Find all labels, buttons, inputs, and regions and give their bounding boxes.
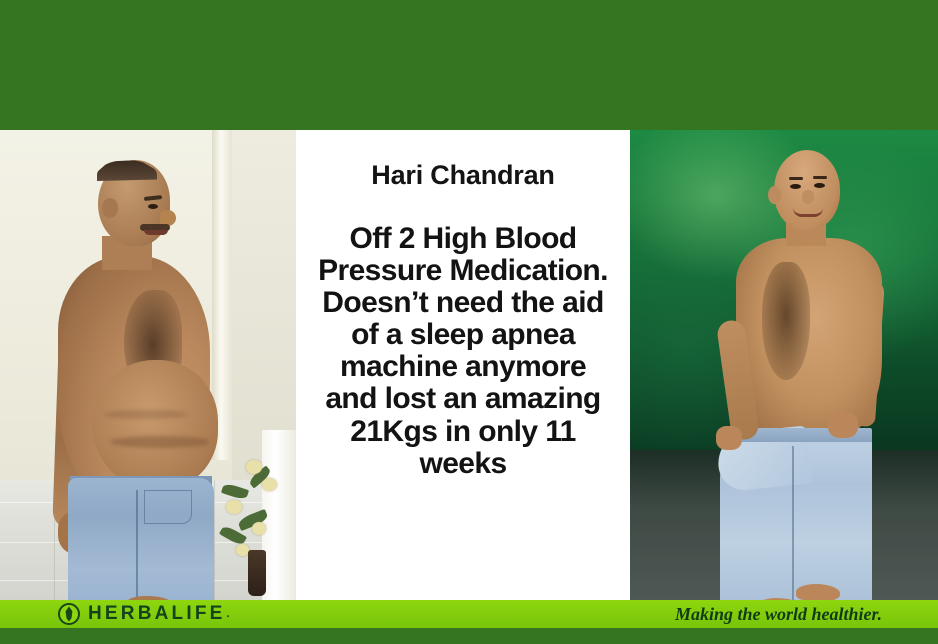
after-torso — [736, 238, 882, 438]
person-name: Hari Chandran — [371, 162, 554, 189]
before-photo — [0, 130, 296, 600]
before-eye — [148, 204, 158, 209]
top-green-banner — [0, 0, 938, 130]
after-eye — [814, 183, 825, 188]
before-belly — [92, 360, 218, 490]
after-eyebrow — [789, 177, 803, 180]
footer-bar: HERBALIFE . Making the world healthier. — [0, 600, 938, 628]
brand-tagline: Making the world healthier. — [675, 600, 882, 628]
logo-registered-mark: . — [227, 608, 230, 620]
after-jeans-seam — [792, 446, 794, 600]
after-chest-hair — [762, 262, 810, 380]
slide-canvas: Hari Chandran Off 2 High Blood Pressure … — [0, 0, 938, 644]
before-belly-fold — [110, 436, 210, 448]
after-hand-right — [828, 412, 858, 438]
before-mouth — [144, 230, 168, 235]
after-eye — [790, 184, 801, 189]
before-person-figure — [40, 160, 230, 600]
before-wall-right — [232, 130, 296, 480]
logo-wordmark: HERBALIFE — [88, 603, 226, 625]
after-person-figure — [678, 150, 908, 600]
testimonial-panel: Hari Chandran Off 2 High Blood Pressure … — [296, 130, 630, 600]
leaf-shape — [65, 607, 74, 622]
after-foot — [796, 584, 840, 600]
herbalife-logo: HERBALIFE . — [58, 603, 230, 625]
after-smile — [793, 208, 823, 217]
after-eyebrow — [813, 176, 827, 179]
footer-dark-strip — [0, 628, 938, 644]
before-belly-fold — [104, 410, 188, 419]
leaf-in-circle-icon — [58, 603, 80, 625]
before-jeans-seam — [136, 490, 138, 600]
content-row: Hari Chandran Off 2 High Blood Pressure … — [0, 130, 938, 600]
after-ear — [768, 186, 781, 204]
testimonial-text: Off 2 High Blood Pressure Medication. Do… — [313, 223, 613, 480]
before-jeans-pocket — [144, 490, 192, 524]
after-nose — [802, 190, 814, 204]
after-photo — [630, 130, 938, 600]
before-jeans — [68, 478, 214, 600]
before-vase — [248, 550, 266, 596]
before-ear — [102, 198, 118, 218]
after-hand-left — [716, 426, 742, 450]
